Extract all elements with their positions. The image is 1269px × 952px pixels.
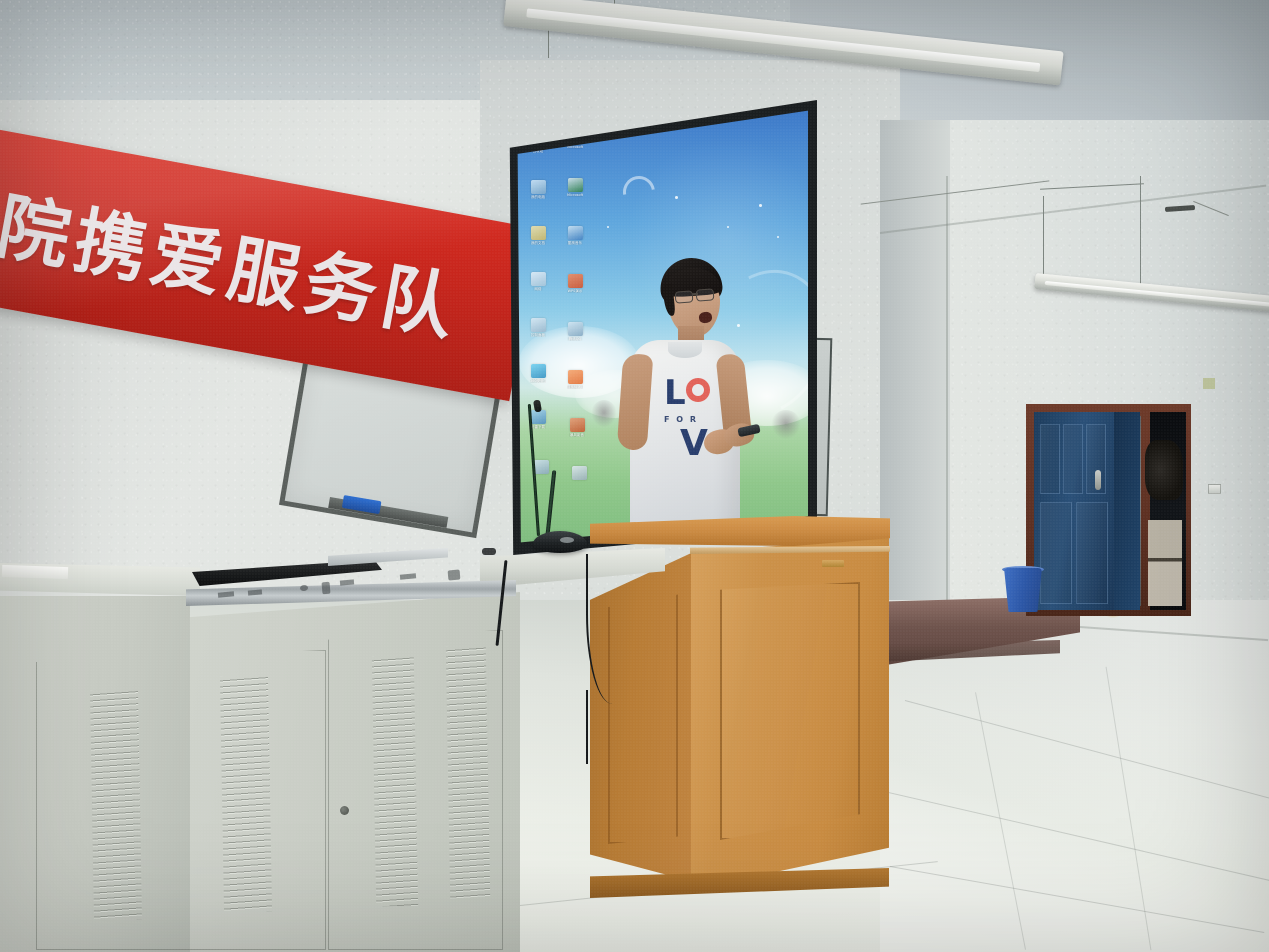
desktop-icon[interactable]: 我的文档 [530, 226, 546, 245]
furniture-beyond-door [1145, 440, 1183, 500]
star-icon [759, 204, 762, 207]
desktop-icon-label: 我的文档 [530, 241, 546, 245]
lectern [590, 516, 895, 902]
desktop-icon[interactable]: 网络 [530, 272, 546, 291]
presenter: L F O R V [612, 258, 762, 536]
star-icon [607, 226, 609, 228]
desktop-icon-glyph [572, 466, 587, 480]
desktop-icon[interactable]: 控制面板 [530, 318, 546, 337]
desktop-icon-glyph [531, 410, 546, 424]
desk-small-object[interactable] [482, 548, 496, 555]
tshirt-letter-L: L [664, 376, 686, 410]
microphone-base-highlight [560, 537, 574, 543]
moon-crescent-icon [617, 170, 662, 215]
desktop-icon-glyph [531, 272, 546, 286]
desktop-icon[interactable]: 暴风影音 [569, 418, 585, 437]
paper-sheet[interactable] [2, 565, 68, 579]
cabinet-vent-louvers [446, 646, 490, 899]
star-icon [727, 226, 729, 228]
desktop-icon[interactable]: 酷狗音乐 [567, 226, 583, 245]
desktop-icon[interactable]: WPS演示 [567, 274, 583, 293]
desktop-icon[interactable]: 我的电脑 [530, 180, 546, 199]
desktop-icon[interactable] [571, 466, 587, 481]
slide-notch [321, 582, 330, 595]
trash-bin[interactable] [1004, 568, 1042, 612]
desktop-icon-label: 腾讯QQ [567, 337, 583, 341]
stacked-boxes [1148, 520, 1182, 606]
desktop-icon-label: 酷狗音乐 [567, 241, 583, 245]
cabinet-vent-louvers [220, 676, 272, 913]
desktop-icon-label: 控制面板 [530, 333, 546, 337]
glasses-lens-right [696, 288, 715, 301]
classroom-photo: 学院携爱服务队 回收站 我的电脑 我的文档 [0, 0, 1269, 952]
lectern-name-plate [822, 560, 844, 567]
light-hanger-wire [1043, 196, 1044, 280]
desktop-icon-glyph [531, 180, 546, 194]
lectern-panel-inset-front [720, 582, 860, 840]
desktop-icon-label: 暴风影音 [569, 433, 585, 437]
desktop-icon[interactable]: 360安全卫士 [530, 364, 546, 383]
desktop-icon-glyph [568, 226, 583, 240]
door-panel-inset [1063, 424, 1083, 494]
desktop-icon-glyph [534, 460, 549, 474]
door-panel-inset [1040, 424, 1060, 494]
tshirt-letter-O [686, 378, 710, 402]
desktop-icon-label: Microsoft Excel 2010 [567, 193, 583, 197]
desktop-icon-glyph [570, 418, 585, 432]
cabinet-door-left[interactable] [36, 650, 326, 950]
desktop-icon-glyph [531, 364, 546, 378]
tshirt-collar [668, 342, 702, 358]
door-leaf-right[interactable] [1114, 412, 1140, 610]
desktop-icon-label: WPS演示 [567, 289, 583, 293]
cabinet-door-knob[interactable] [340, 806, 349, 815]
desktop-icon[interactable]: 腾讯QQ [567, 322, 583, 341]
desktop-icon[interactable]: 搜狗输入法 [567, 370, 583, 389]
light-switch[interactable] [1208, 484, 1221, 494]
cabinet-vent-louvers [90, 690, 142, 921]
microphone-base[interactable] [533, 531, 587, 553]
desktop-icon-label: 我的电脑 [530, 195, 546, 199]
door-panel-inset [1076, 502, 1108, 604]
desktop-icon-label: 搜狗输入法 [567, 385, 583, 389]
wall-sign [1203, 378, 1215, 389]
slide-notch [448, 569, 461, 580]
desktop-icon-glyph [531, 226, 546, 240]
desktop-icon-glyph [568, 322, 583, 336]
door-panel-inset [1040, 502, 1072, 604]
desktop-icon-glyph [531, 318, 546, 332]
light-hanger-wire [1140, 176, 1141, 284]
star-icon [675, 196, 678, 199]
wall-corner-seam [946, 176, 948, 656]
lectern-base-molding [590, 868, 889, 898]
lectern-top-surface [590, 516, 890, 546]
desktop-icon[interactable]: Microsoft Excel 2010 [567, 178, 583, 197]
desktop-icon-glyph [568, 274, 583, 288]
cabinet-vent-louvers [372, 656, 418, 907]
glasses-lens-left [675, 290, 694, 303]
desktop-icon-glyph [568, 370, 583, 384]
excel-icon [568, 178, 583, 192]
door-handle[interactable] [1095, 470, 1101, 490]
desktop-icon-label: 360安全卫士 [530, 379, 546, 383]
desktop-icon-label: 网络 [530, 287, 546, 291]
star-icon [777, 236, 779, 238]
tree-shape [771, 410, 801, 440]
